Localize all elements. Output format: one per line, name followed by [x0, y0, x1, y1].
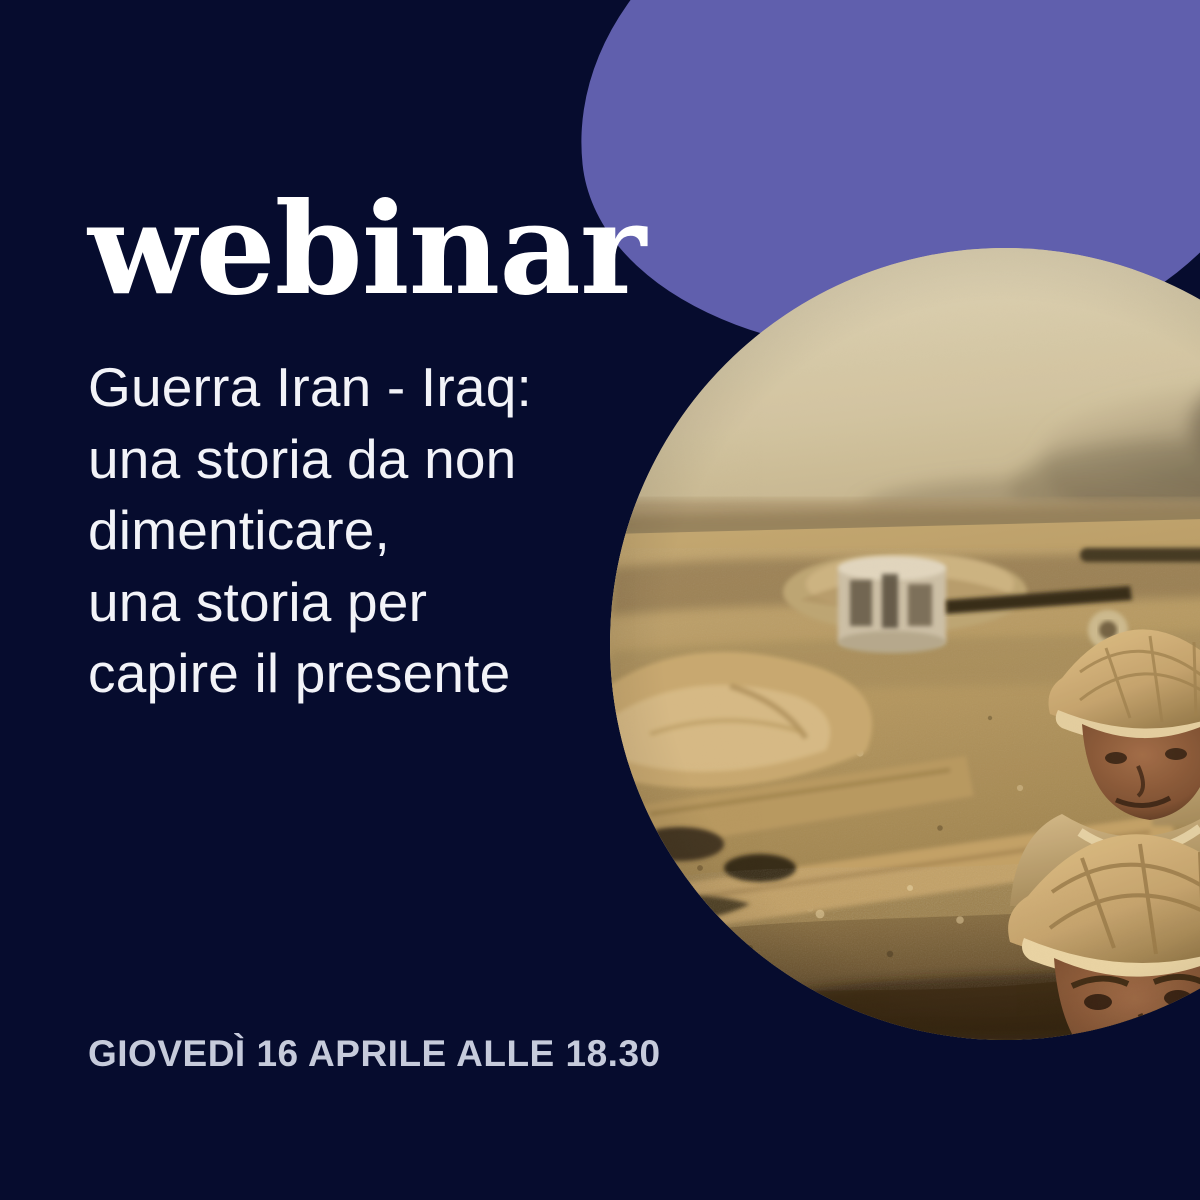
headline-line-4: una storia per: [88, 567, 648, 639]
headline: Guerra Iran - Iraq: una storia da non di…: [88, 352, 648, 710]
webinar-poster: webinar Guerra Iran - Iraq: una storia d…: [0, 0, 1200, 1200]
headline-line-1: Guerra Iran - Iraq:: [88, 352, 648, 424]
war-photo-illustration: [610, 248, 1200, 1040]
photo-circle: [610, 248, 1200, 1040]
poster-text-block: webinar Guerra Iran - Iraq: una storia d…: [88, 0, 648, 1200]
page-title: webinar: [88, 186, 645, 312]
event-datetime: GIOVEDÌ 16 APRILE ALLE 18.30: [88, 1034, 661, 1075]
headline-line-3: dimenticare,: [88, 495, 648, 567]
headline-line-2: una storia da non: [88, 424, 648, 496]
headline-line-5: capire il presente: [88, 638, 648, 710]
